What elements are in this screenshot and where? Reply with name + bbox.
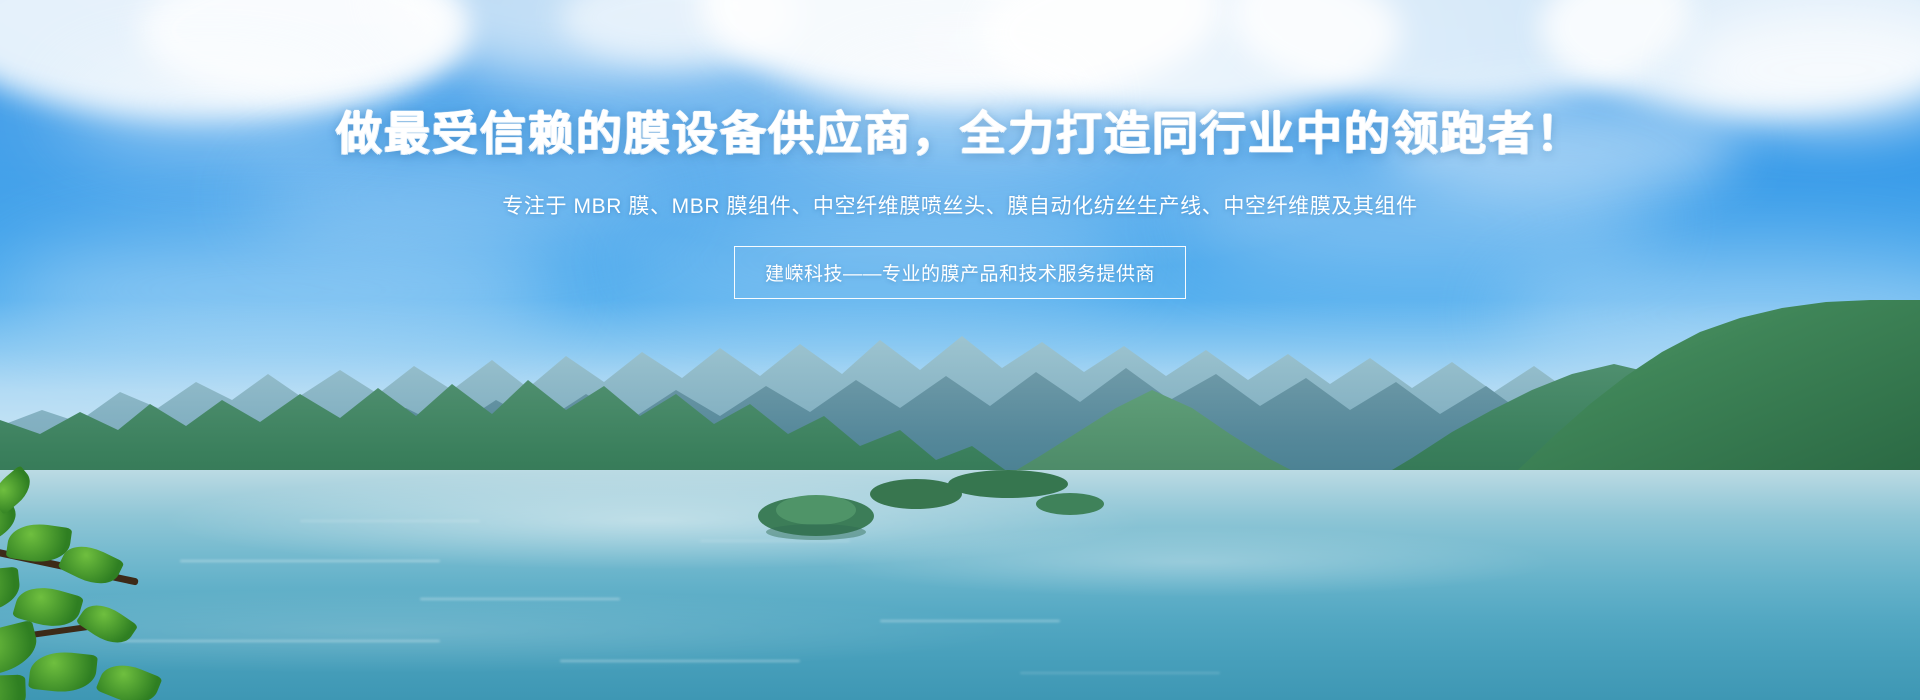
banner-tagline-box: 建嵘科技——专业的膜产品和技术服务提供商 [734,246,1186,299]
hero-banner: 做最受信赖的膜设备供应商，全力打造同行业中的领跑者！ 专注于 MBR 膜、MBR… [0,0,1920,700]
foreground-foliage [0,420,260,700]
lake-islets [740,470,1160,560]
banner-headline: 做最受信赖的膜设备供应商，全力打造同行业中的领跑者！ [336,97,1584,163]
banner-subtitle: 专注于 MBR 膜、MBR 膜组件、中空纤维膜喷丝头、膜自动化纺丝生产线、中空纤… [502,190,1417,220]
banner-content: 做最受信赖的膜设备供应商，全力打造同行业中的领跑者！ 专注于 MBR 膜、MBR… [0,0,1920,299]
